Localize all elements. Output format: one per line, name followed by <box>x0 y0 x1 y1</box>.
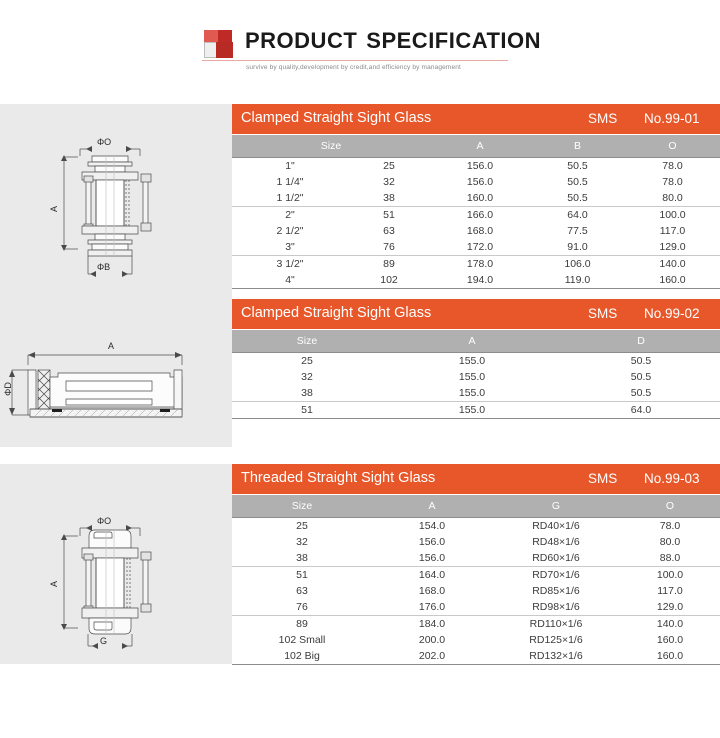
table-column-header-1: Size A B O <box>232 134 720 157</box>
cell-a: 156.0 <box>430 160 530 172</box>
cell-o: 160.0 <box>625 274 720 286</box>
cell-size: 102 Big <box>232 650 372 662</box>
clamped-straight-sight-glass-vertical-drawing: ΦO A ΦB <box>0 104 232 299</box>
column-header-o: O <box>620 500 720 512</box>
cell-size-mm: 76 <box>348 241 430 253</box>
cell-a: 155.0 <box>382 371 562 383</box>
cell-o: 78.0 <box>620 520 720 532</box>
dim-label-top-3: ΦO <box>97 516 111 526</box>
cell-size-mm: 38 <box>348 192 430 204</box>
cell-size: 76 <box>232 601 372 613</box>
logo-square-4 <box>216 42 233 58</box>
cell-o: 117.0 <box>620 585 720 597</box>
cell-size: 51 <box>232 404 382 416</box>
threaded-straight-sight-glass-drawing: ΦO A G <box>0 464 232 664</box>
cell-a: 156.0 <box>372 536 492 548</box>
cell-b: 50.5 <box>530 160 625 172</box>
table-row: 38155.050.5 <box>232 385 720 401</box>
table-row: 102 Big202.0RD132×1/6160.0 <box>232 648 720 665</box>
column-header-a: A <box>382 335 562 347</box>
table-title-bar-3: Threaded Straight Sight Glass SMS No.99-… <box>232 464 720 494</box>
cell-o: 140.0 <box>620 618 720 630</box>
cell-g: RD85×1/6 <box>492 585 620 597</box>
cell-size-inch: 1" <box>232 160 348 172</box>
cell-a: 172.0 <box>430 241 530 253</box>
cell-a: 155.0 <box>382 387 562 399</box>
cell-size: 102 Small <box>232 634 372 646</box>
cell-g: RD98×1/6 <box>492 601 620 613</box>
cell-b: 119.0 <box>530 274 625 286</box>
cell-g: RD60×1/6 <box>492 552 620 564</box>
cell-a: 200.0 <box>372 634 492 646</box>
table-row: 32155.050.5 <box>232 369 720 385</box>
cell-o: 160.0 <box>620 634 720 646</box>
cell-size: 38 <box>232 387 382 399</box>
table-panel-3: Threaded Straight Sight Glass SMS No.99-… <box>232 464 720 665</box>
table-number-2: No.99-02 <box>644 306 700 321</box>
cell-size: 63 <box>232 585 372 597</box>
table-panel-1: Clamped Straight Sight Glass SMS No.99-0… <box>232 104 720 289</box>
page-subtitle: survive by quality,development by credit… <box>246 64 461 71</box>
page-title-word-2: SPECIFICATION <box>366 28 541 53</box>
sight-glass-vertical-svg <box>0 104 232 299</box>
cell-a: 184.0 <box>372 618 492 630</box>
cell-a: 176.0 <box>372 601 492 613</box>
cell-a: 166.0 <box>430 209 530 221</box>
table-row: 2 1/2"63168.077.5117.0 <box>232 223 720 239</box>
cell-b: 91.0 <box>530 241 625 253</box>
cell-size-mm: 25 <box>348 160 430 172</box>
cell-a: 155.0 <box>382 355 562 367</box>
cell-o: 129.0 <box>620 601 720 613</box>
cell-size: 32 <box>232 536 372 548</box>
cell-a: 168.0 <box>430 225 530 237</box>
cell-size: 89 <box>232 618 372 630</box>
table-body-1: 1"25156.050.578.01 1/4"32156.050.578.01 … <box>232 157 720 289</box>
cell-o: 80.0 <box>620 536 720 548</box>
cell-size-inch: 2" <box>232 209 348 221</box>
page-title-word-1: PRODUCT <box>245 28 357 53</box>
cell-b: 106.0 <box>530 258 625 270</box>
cell-d: 50.5 <box>562 355 720 367</box>
cell-a: 154.0 <box>372 520 492 532</box>
cell-size-inch: 3 1/2" <box>232 258 348 270</box>
section-threaded: ΦO A G <box>0 464 720 674</box>
page-title: PRODUCTSPECIFICATION <box>245 28 541 54</box>
cell-size-inch: 3" <box>232 241 348 253</box>
table-title-3: Threaded Straight Sight Glass <box>241 470 435 486</box>
title-divider <box>202 60 508 61</box>
cell-size-mm: 51 <box>348 209 430 221</box>
cell-a: 156.0 <box>372 552 492 564</box>
cell-o: 140.0 <box>625 258 720 270</box>
column-header-size: Size <box>232 140 430 152</box>
column-header-b: B <box>530 140 625 152</box>
cell-a: 156.0 <box>430 176 530 188</box>
cell-g: RD70×1/6 <box>492 569 620 581</box>
cell-b: 50.5 <box>530 192 625 204</box>
cell-a: 202.0 <box>372 650 492 662</box>
cell-o: 100.0 <box>625 209 720 221</box>
section-clamped-vertical: ΦO A ΦB <box>0 104 720 299</box>
dim-label-left-1: A <box>49 206 59 212</box>
drawing-panel-2: A ΦD <box>0 299 232 447</box>
dim-label-left-3: A <box>49 581 59 587</box>
cell-o: 129.0 <box>625 241 720 253</box>
dim-label-left-2: ΦD <box>3 382 13 396</box>
table-number-3: No.99-03 <box>644 471 700 486</box>
column-header-a: A <box>430 140 530 152</box>
table-number-1: No.99-01 <box>644 111 700 126</box>
cell-o: 80.0 <box>625 192 720 204</box>
drawing-panel-3: ΦO A G <box>0 464 232 664</box>
table-row: 1"25156.050.578.0 <box>232 157 720 174</box>
table-body-2: 25155.050.532155.050.538155.050.551155.0… <box>232 352 720 419</box>
cell-g: RD132×1/6 <box>492 650 620 662</box>
table-standard-2: SMS <box>588 306 617 321</box>
table-column-header-3: Size A G O <box>232 494 720 517</box>
cell-o: 88.0 <box>620 552 720 564</box>
column-header-size: Size <box>232 335 382 347</box>
cell-a: 178.0 <box>430 258 530 270</box>
cell-size-mm: 89 <box>348 258 430 270</box>
table-row: 2"51166.064.0100.0 <box>232 206 720 223</box>
table-title-1: Clamped Straight Sight Glass <box>241 110 431 126</box>
table-title-bar-1: Clamped Straight Sight Glass SMS No.99-0… <box>232 104 720 134</box>
cell-g: RD48×1/6 <box>492 536 620 548</box>
cell-a: 168.0 <box>372 585 492 597</box>
product-spec-logo-icon <box>204 30 238 60</box>
cell-a: 155.0 <box>382 404 562 416</box>
table-title-2: Clamped Straight Sight Glass <box>241 305 431 321</box>
table-row: 102 Small200.0RD125×1/6160.0 <box>232 632 720 648</box>
cell-size: 25 <box>232 355 382 367</box>
cell-size-mm: 63 <box>348 225 430 237</box>
cell-o: 78.0 <box>625 176 720 188</box>
cell-g: RD125×1/6 <box>492 634 620 646</box>
drawing-panel-1: ΦO A ΦB <box>0 104 232 299</box>
cell-d: 50.5 <box>562 371 720 383</box>
cell-size-inch: 1 1/2" <box>232 192 348 204</box>
cell-b: 77.5 <box>530 225 625 237</box>
cell-size: 51 <box>232 569 372 581</box>
cell-size: 32 <box>232 371 382 383</box>
cell-size-mm: 32 <box>348 176 430 188</box>
dim-label-top-1: ΦO <box>97 137 111 147</box>
dim-label-bottom-1: ΦB <box>97 262 110 272</box>
table-row: 76176.0RD98×1/6129.0 <box>232 599 720 615</box>
table-column-header-2: Size A D <box>232 329 720 352</box>
table-row: 89184.0RD110×1/6140.0 <box>232 615 720 632</box>
table-row: 3 1/2"89178.0106.0140.0 <box>232 255 720 272</box>
cell-a: 160.0 <box>430 192 530 204</box>
table-row: 51164.0RD70×1/6100.0 <box>232 566 720 583</box>
column-header-size: Size <box>232 500 372 512</box>
cell-b: 50.5 <box>530 176 625 188</box>
table-title-bar-2: Clamped Straight Sight Glass SMS No.99-0… <box>232 299 720 329</box>
column-header-d: D <box>562 335 720 347</box>
brand-block: PRODUCTSPECIFICATION survive by quality,… <box>200 28 520 84</box>
cell-o: 100.0 <box>620 569 720 581</box>
table-row: 63168.0RD85×1/6117.0 <box>232 583 720 599</box>
table-body-3: 25154.0RD40×1/678.032156.0RD48×1/680.038… <box>232 517 720 665</box>
table-standard-1: SMS <box>588 111 617 126</box>
clamped-straight-sight-glass-horizontal-drawing: A ΦD <box>0 299 232 447</box>
section-clamped-horizontal: A ΦD <box>0 299 720 464</box>
cell-size-inch: 2 1/2" <box>232 225 348 237</box>
cell-a: 194.0 <box>430 274 530 286</box>
table-panel-2: Clamped Straight Sight Glass SMS No.99-0… <box>232 299 720 419</box>
column-header-a: A <box>372 500 492 512</box>
table-row: 3"76172.091.0129.0 <box>232 239 720 255</box>
table-row: 1 1/2"38160.050.580.0 <box>232 190 720 206</box>
table-row: 32156.0RD48×1/680.0 <box>232 534 720 550</box>
cell-o: 78.0 <box>625 160 720 172</box>
threaded-sight-glass-svg <box>0 464 232 664</box>
cell-size-inch: 1 1/4" <box>232 176 348 188</box>
cell-size: 25 <box>232 520 372 532</box>
table-row: 25154.0RD40×1/678.0 <box>232 517 720 534</box>
column-header-o: O <box>625 140 720 152</box>
cell-g: RD40×1/6 <box>492 520 620 532</box>
sight-glass-horizontal-svg <box>0 299 232 447</box>
page-header: PRODUCTSPECIFICATION survive by quality,… <box>0 0 720 104</box>
dim-label-top-2: A <box>108 341 114 351</box>
column-header-g: G <box>492 500 620 512</box>
cell-o: 160.0 <box>620 650 720 662</box>
cell-d: 50.5 <box>562 387 720 399</box>
table-row: 25155.050.5 <box>232 352 720 369</box>
cell-d: 64.0 <box>562 404 720 416</box>
cell-size-inch: 4" <box>232 274 348 286</box>
table-row: 1 1/4"32156.050.578.0 <box>232 174 720 190</box>
table-row: 4"102194.0119.0160.0 <box>232 272 720 289</box>
table-row: 38156.0RD60×1/688.0 <box>232 550 720 566</box>
cell-size-mm: 102 <box>348 274 430 286</box>
cell-b: 64.0 <box>530 209 625 221</box>
cell-a: 164.0 <box>372 569 492 581</box>
cell-o: 117.0 <box>625 225 720 237</box>
dim-label-bottom-3: G <box>100 636 107 646</box>
cell-g: RD110×1/6 <box>492 618 620 630</box>
table-standard-3: SMS <box>588 471 617 486</box>
table-row: 51155.064.0 <box>232 401 720 419</box>
cell-size: 38 <box>232 552 372 564</box>
